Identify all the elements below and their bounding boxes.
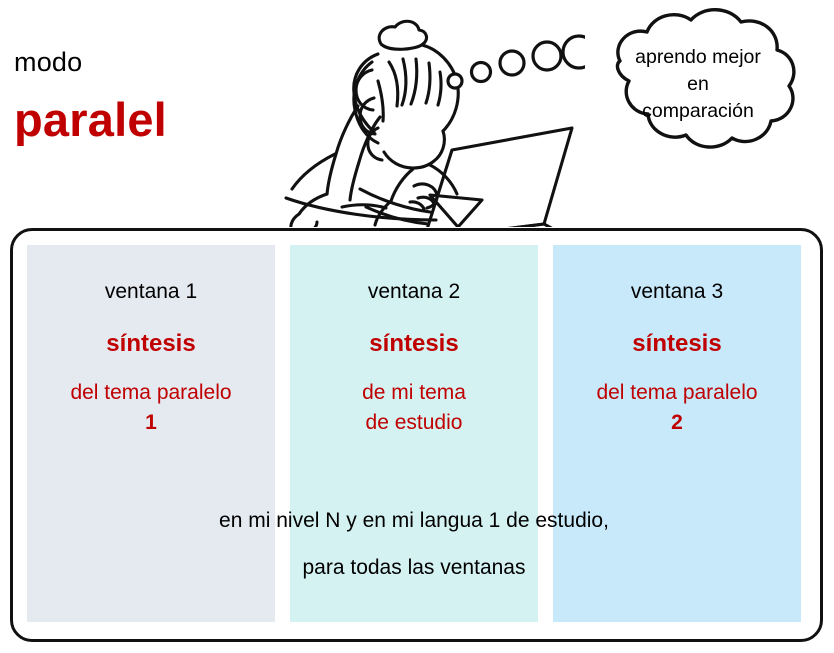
window-column-1[interactable]: ventana 1 síntesis del tema paralelo 1 [27,245,275,622]
header-area: modo paralel [0,0,834,232]
window-1-topic-line-2: 1 [27,408,275,438]
thought-bubble-line-3: comparación [596,98,800,125]
window-3-synthesis: síntesis [553,330,801,358]
window-3-topic: del tema paralelo 2 [553,378,801,438]
window-3-topic-line-1: del tema paralelo [596,381,757,404]
window-2-synthesis: síntesis [290,330,538,358]
window-3-topic-line-2: 2 [553,408,801,438]
windows-columns: ventana 1 síntesis del tema paralelo 1 v… [27,245,801,622]
window-2-label: ventana 2 [290,279,538,305]
window-column-3[interactable]: ventana 3 síntesis del tema paralelo 2 [553,245,801,622]
window-2-topic-line-2: de estudio [290,408,538,438]
window-2-topic-line-1: de mi tema [362,381,466,404]
window-3-label: ventana 3 [553,279,801,305]
thought-bubble-dots [445,24,585,96]
thought-bubble-line-1: aprendo mejor [596,44,800,71]
window-2-topic: de mi tema de estudio [290,378,538,438]
thought-bubble-text: aprendo mejor en comparación [596,44,800,125]
thought-bubble-line-2: en [596,71,800,98]
mode-name-title: paralel [14,94,167,146]
window-column-2[interactable]: ventana 2 síntesis de mi tema de estudio [290,245,538,622]
mode-label: modo [14,47,82,77]
window-1-label: ventana 1 [27,279,275,305]
window-1-topic-line-1: del tema paralelo [70,381,231,404]
window-1-synthesis: síntesis [27,330,275,358]
window-1-topic: del tema paralelo 1 [27,378,275,438]
